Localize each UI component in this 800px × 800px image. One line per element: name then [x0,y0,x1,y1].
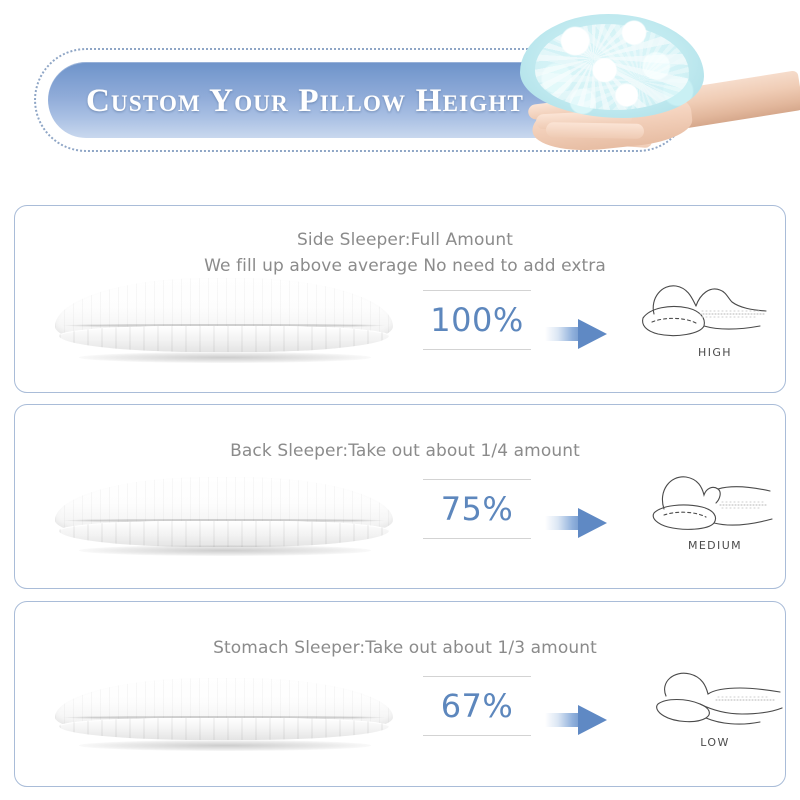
panel-stomach-sleeper: Stomach Sleeper:Take out about 1/3 amoun… [14,601,786,787]
pillow-gusset-texture [59,326,389,352]
finger-shape [546,122,644,139]
pillow-photo [49,664,399,774]
panel-side-sleeper: Side Sleeper:Full Amount We fill up abov… [14,205,786,393]
header-banner: Custom Your Pillow Height [0,0,800,192]
panel-back-sleeper: Back Sleeper:Take out about 1/4 amount 7… [14,404,786,589]
arrow-head [578,319,607,349]
pillow-shadow [79,545,371,556]
percent-block-stomach: 67% [423,676,531,736]
rule-bottom [423,735,531,736]
pillow-shadow [79,740,371,751]
panel-heading-primary: Side Sleeper:Full Amount [175,230,635,250]
percent-value: 75% [423,480,531,538]
hand-holding-foam-icon [480,8,800,192]
pillow-photo [49,272,399,382]
shredded-foam-icon [520,14,704,118]
percent-value: 100% [423,291,531,349]
panel-heading-primary: Stomach Sleeper:Take out about 1/3 amoun… [175,638,635,658]
arrow-head [578,508,607,538]
rule-bottom [423,349,531,350]
right-arrow-icon [545,319,607,349]
posture-label: MEDIUM [640,539,790,552]
pillow-shadow [79,352,371,363]
right-arrow-icon [545,705,607,735]
head-on-pillow-low-icon: LOW [640,658,790,762]
pillow-gusset-texture [59,521,389,547]
pillow-gusset [59,521,389,547]
head-on-pillow-high-icon: HIGH [640,268,790,372]
pillow-photo [49,467,399,577]
rule-bottom [423,538,531,539]
arrow-head [578,705,607,735]
right-arrow-icon [545,508,607,538]
posture-label: LOW [640,736,790,749]
head-on-pillow-medium-icon: MEDIUM [640,461,790,565]
posture-label: HIGH [640,346,790,359]
panel-heading-primary: Back Sleeper:Take out about 1/4 amount [175,441,635,461]
pillow-gusset [59,718,389,740]
pillow-gusset-texture [59,718,389,740]
percent-block-side: 100% [423,290,531,350]
pillow-gusset [59,326,389,352]
percent-block-back: 75% [423,479,531,539]
percent-value: 67% [423,677,531,735]
